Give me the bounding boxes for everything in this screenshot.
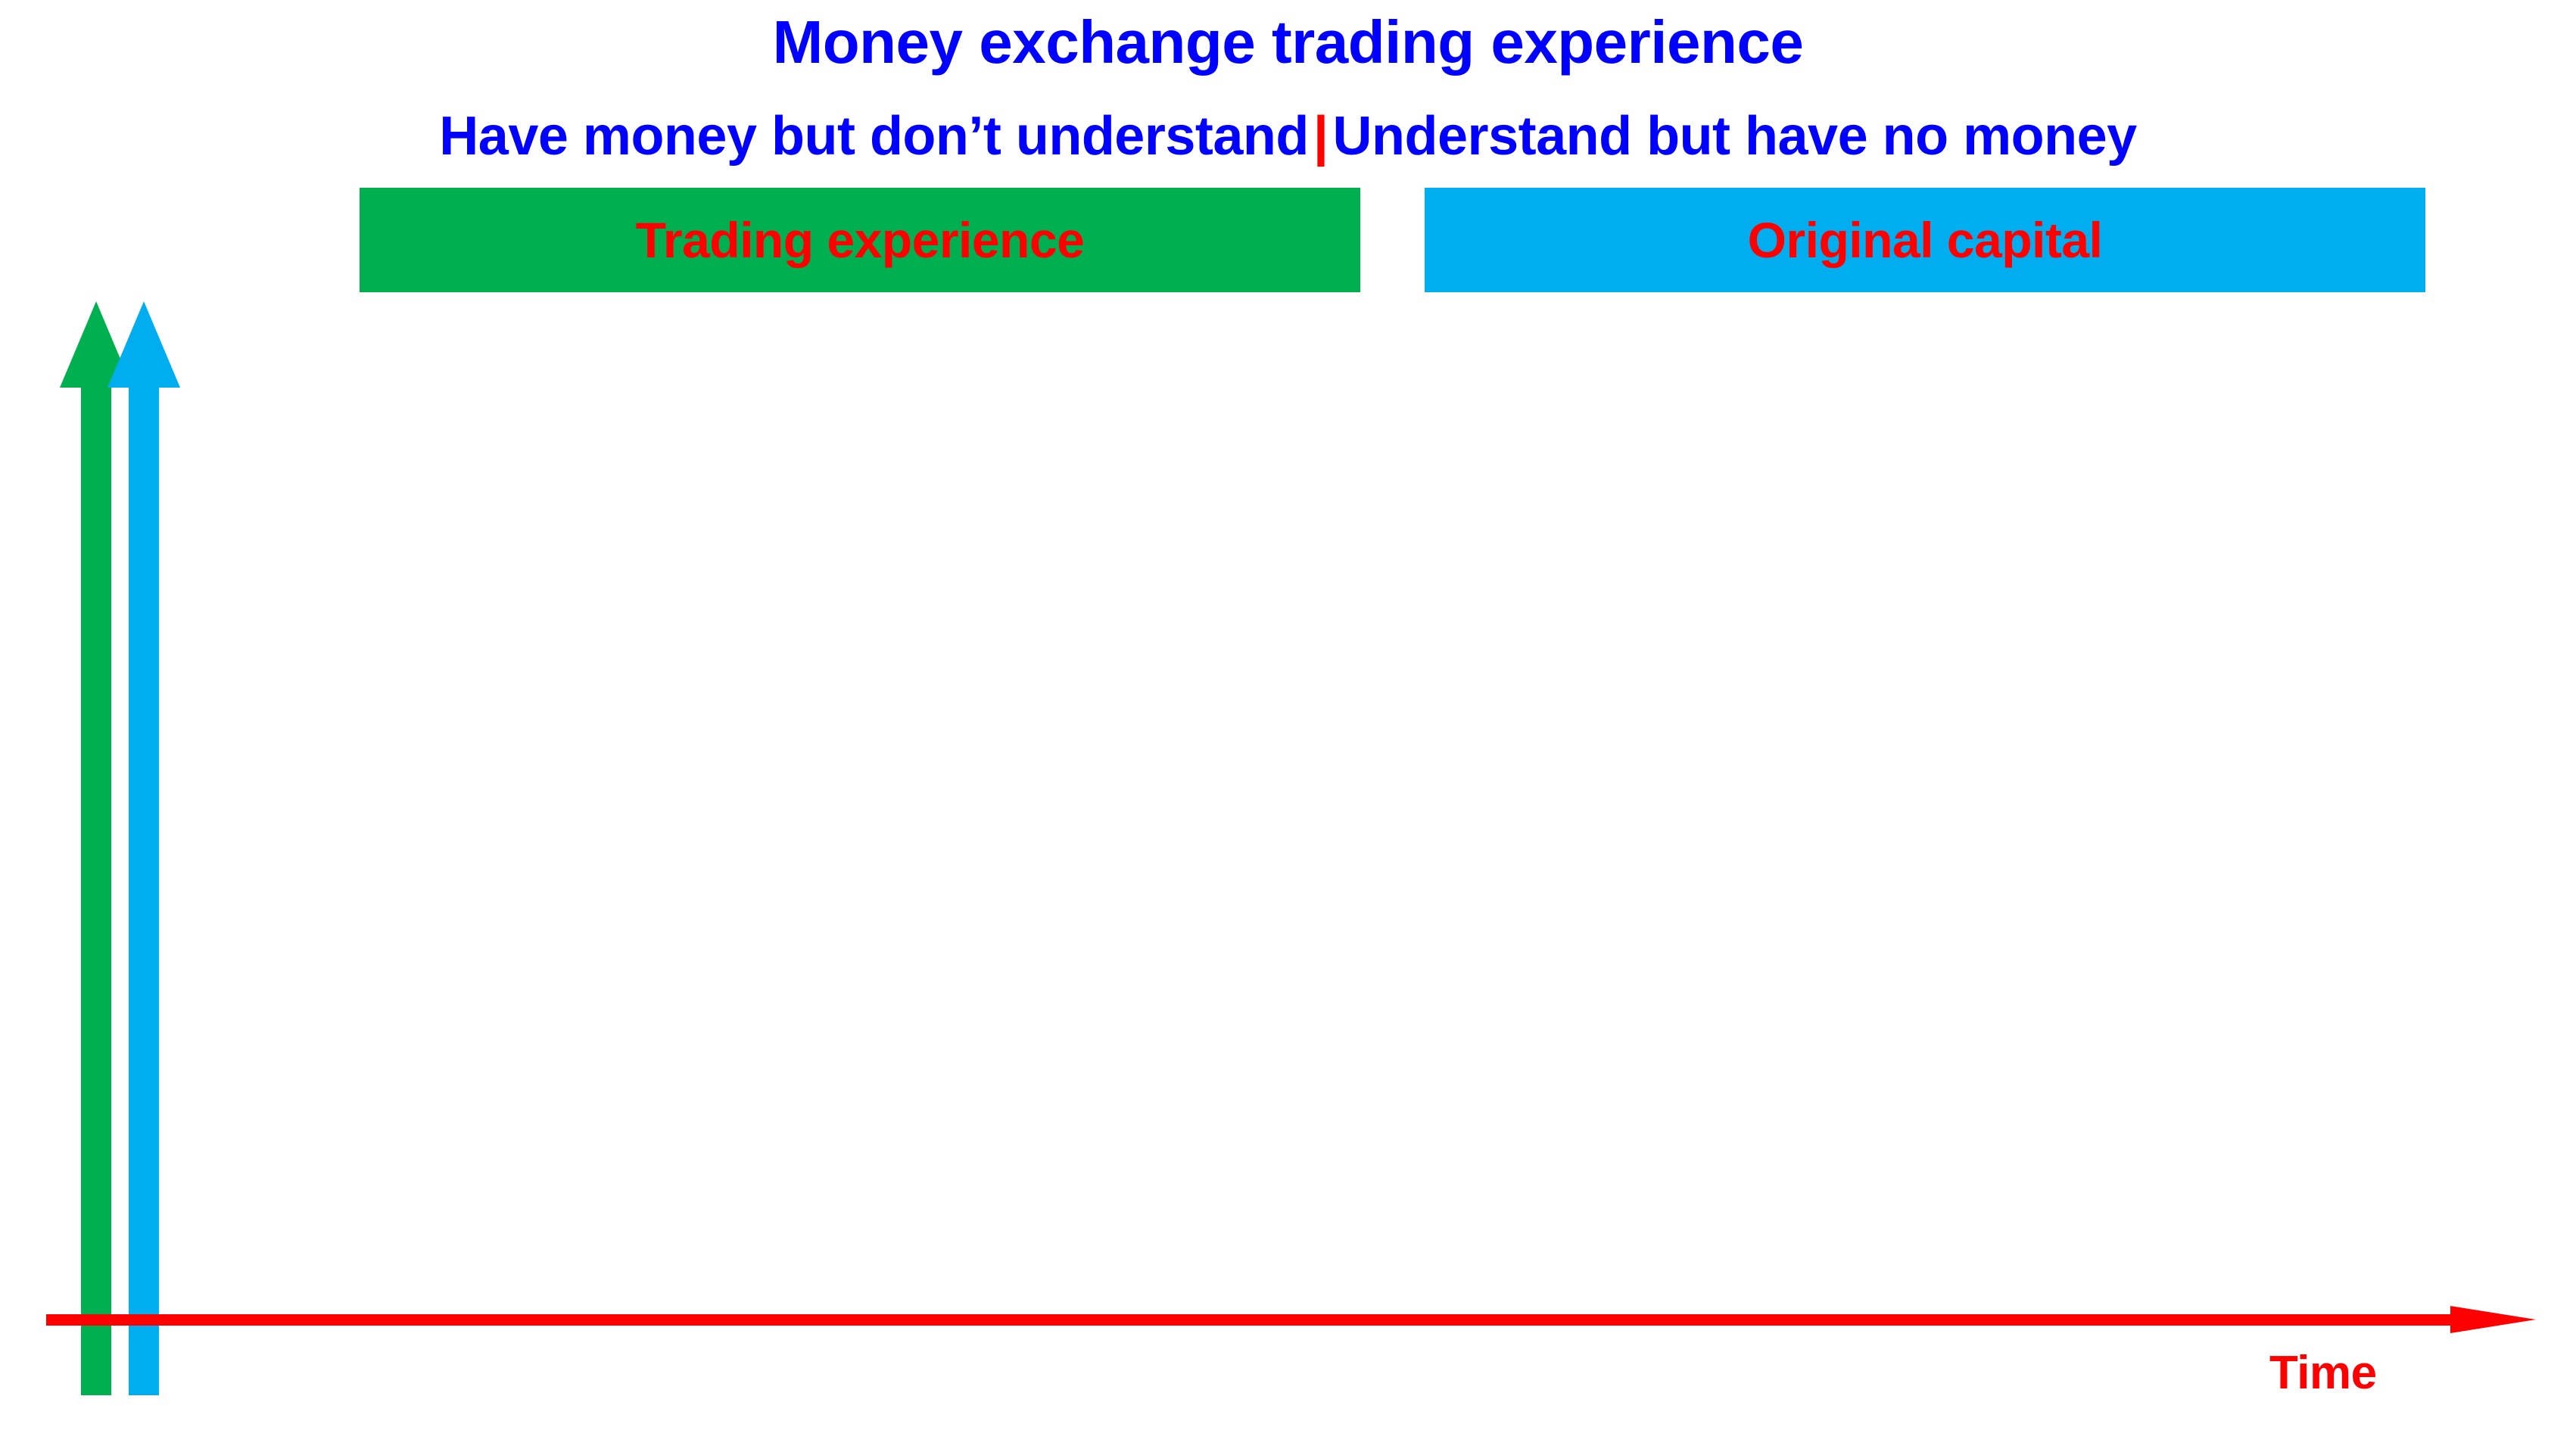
phase-bar-original-capital[interactable]: Original capital	[1425, 188, 2425, 292]
subtitle-right-text: Understand but have no money	[1333, 106, 2137, 167]
phase-bar-trading-experience[interactable]: Trading experience	[360, 188, 1360, 292]
phase-bar-original-capital-label: Original capital	[1748, 211, 2103, 269]
phase-bar-trading-experience-label: Trading experience	[636, 211, 1085, 269]
subtitle: Have money but don’t understand|Understa…	[0, 108, 2576, 166]
horizontal-arrow-time-icon	[46, 1306, 2536, 1333]
vertical-arrow-cyan-icon	[107, 301, 180, 1395]
slide-canvas: Money exchange trading experience Have m…	[0, 0, 2576, 1449]
vertical-arrow-green-icon	[60, 301, 132, 1395]
subtitle-separator: |	[1309, 106, 1333, 167]
page-title: Money exchange trading experience	[0, 11, 2576, 74]
time-axis-label: Time	[2269, 1346, 2377, 1400]
subtitle-left-text: Have money but don’t understand	[439, 106, 1309, 167]
